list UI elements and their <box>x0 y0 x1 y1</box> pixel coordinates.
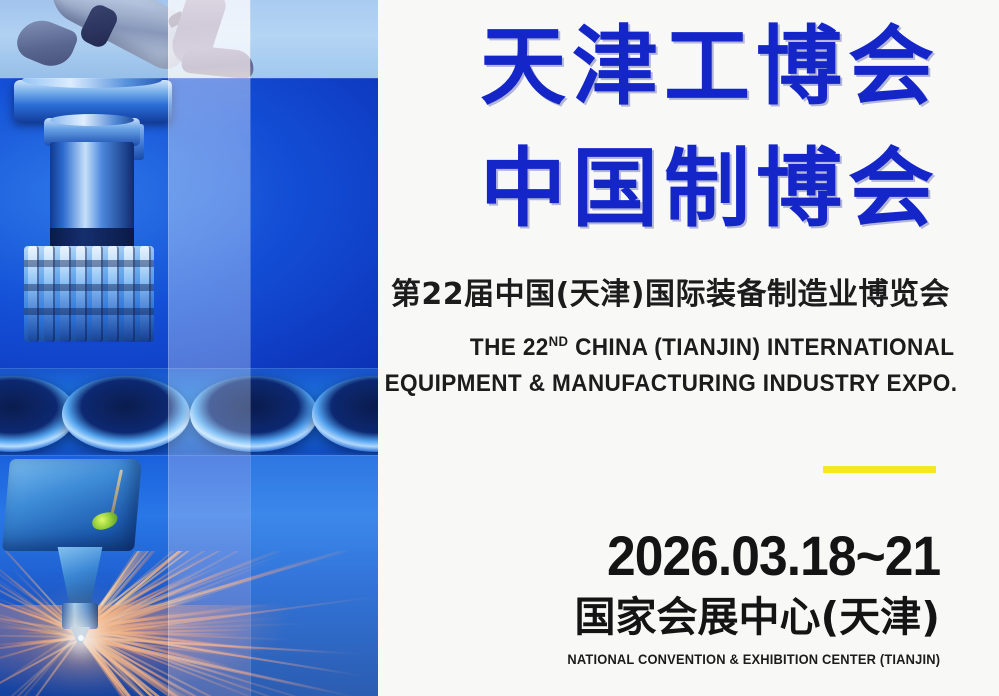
collage-seam <box>168 0 169 696</box>
subtitle-en-post: CHINA (TIANJIN) INTERNATIONAL <box>568 334 954 361</box>
spark-glow <box>0 605 378 696</box>
cutter-notch <box>24 308 154 315</box>
cutter-collar-top <box>50 114 134 126</box>
exhibition-poster: 天津工博会 中国制博会 第22届中国(天津)国际装备制造业博览会 THE 22N… <box>0 0 999 696</box>
collage-seam <box>0 368 378 369</box>
cutter-notch <box>24 260 154 267</box>
collage-seam <box>250 0 251 696</box>
yellow-divider-bar <box>823 466 936 473</box>
fixture-ring <box>62 376 190 452</box>
poster-subtitle-english-line-2: EQUIPMENT & MANUFACTURING INDUSTRY EXPO. <box>384 370 957 398</box>
cutter-notch <box>24 284 154 291</box>
laser-spark-burst <box>78 635 84 641</box>
cutter-teeth-head <box>24 246 154 342</box>
fixture-ring <box>190 376 318 452</box>
subtitle-en-ordinal: ND <box>548 333 568 349</box>
collage-seam <box>0 78 378 79</box>
event-venue-chinese: 国家会展中心(天津) <box>575 597 940 638</box>
poster-title-line-1: 天津工博会 <box>480 24 940 110</box>
collage-milling-cutter-scene <box>0 78 378 368</box>
laser-head-nozzle <box>62 603 98 629</box>
collage-seam <box>0 455 378 456</box>
event-venue-english: NATIONAL CONVENTION & EXHIBITION CENTER … <box>567 652 940 666</box>
collage-laser-cutting-scene <box>0 455 378 696</box>
cutter-shank <box>50 142 134 238</box>
collage-robot-arm-scene <box>0 0 378 78</box>
event-date: 2026.03.18~21 <box>607 528 940 584</box>
poster-subtitle-chinese: 第22届中国(天津)国际装备制造业博览会 <box>391 278 950 311</box>
poster-title-line-2: 中国制博会 <box>480 146 940 232</box>
poster-subtitle-english-line-1: THE 22ND CHINA (TIANJIN) INTERNATIONAL <box>469 333 954 362</box>
industrial-collage-image <box>0 0 378 696</box>
poster-content-panel: 天津工博会 中国制博会 第22届中国(天津)国际装备制造业博览会 THE 22N… <box>378 0 999 696</box>
subtitle-en-pre: THE 22 <box>469 334 548 361</box>
